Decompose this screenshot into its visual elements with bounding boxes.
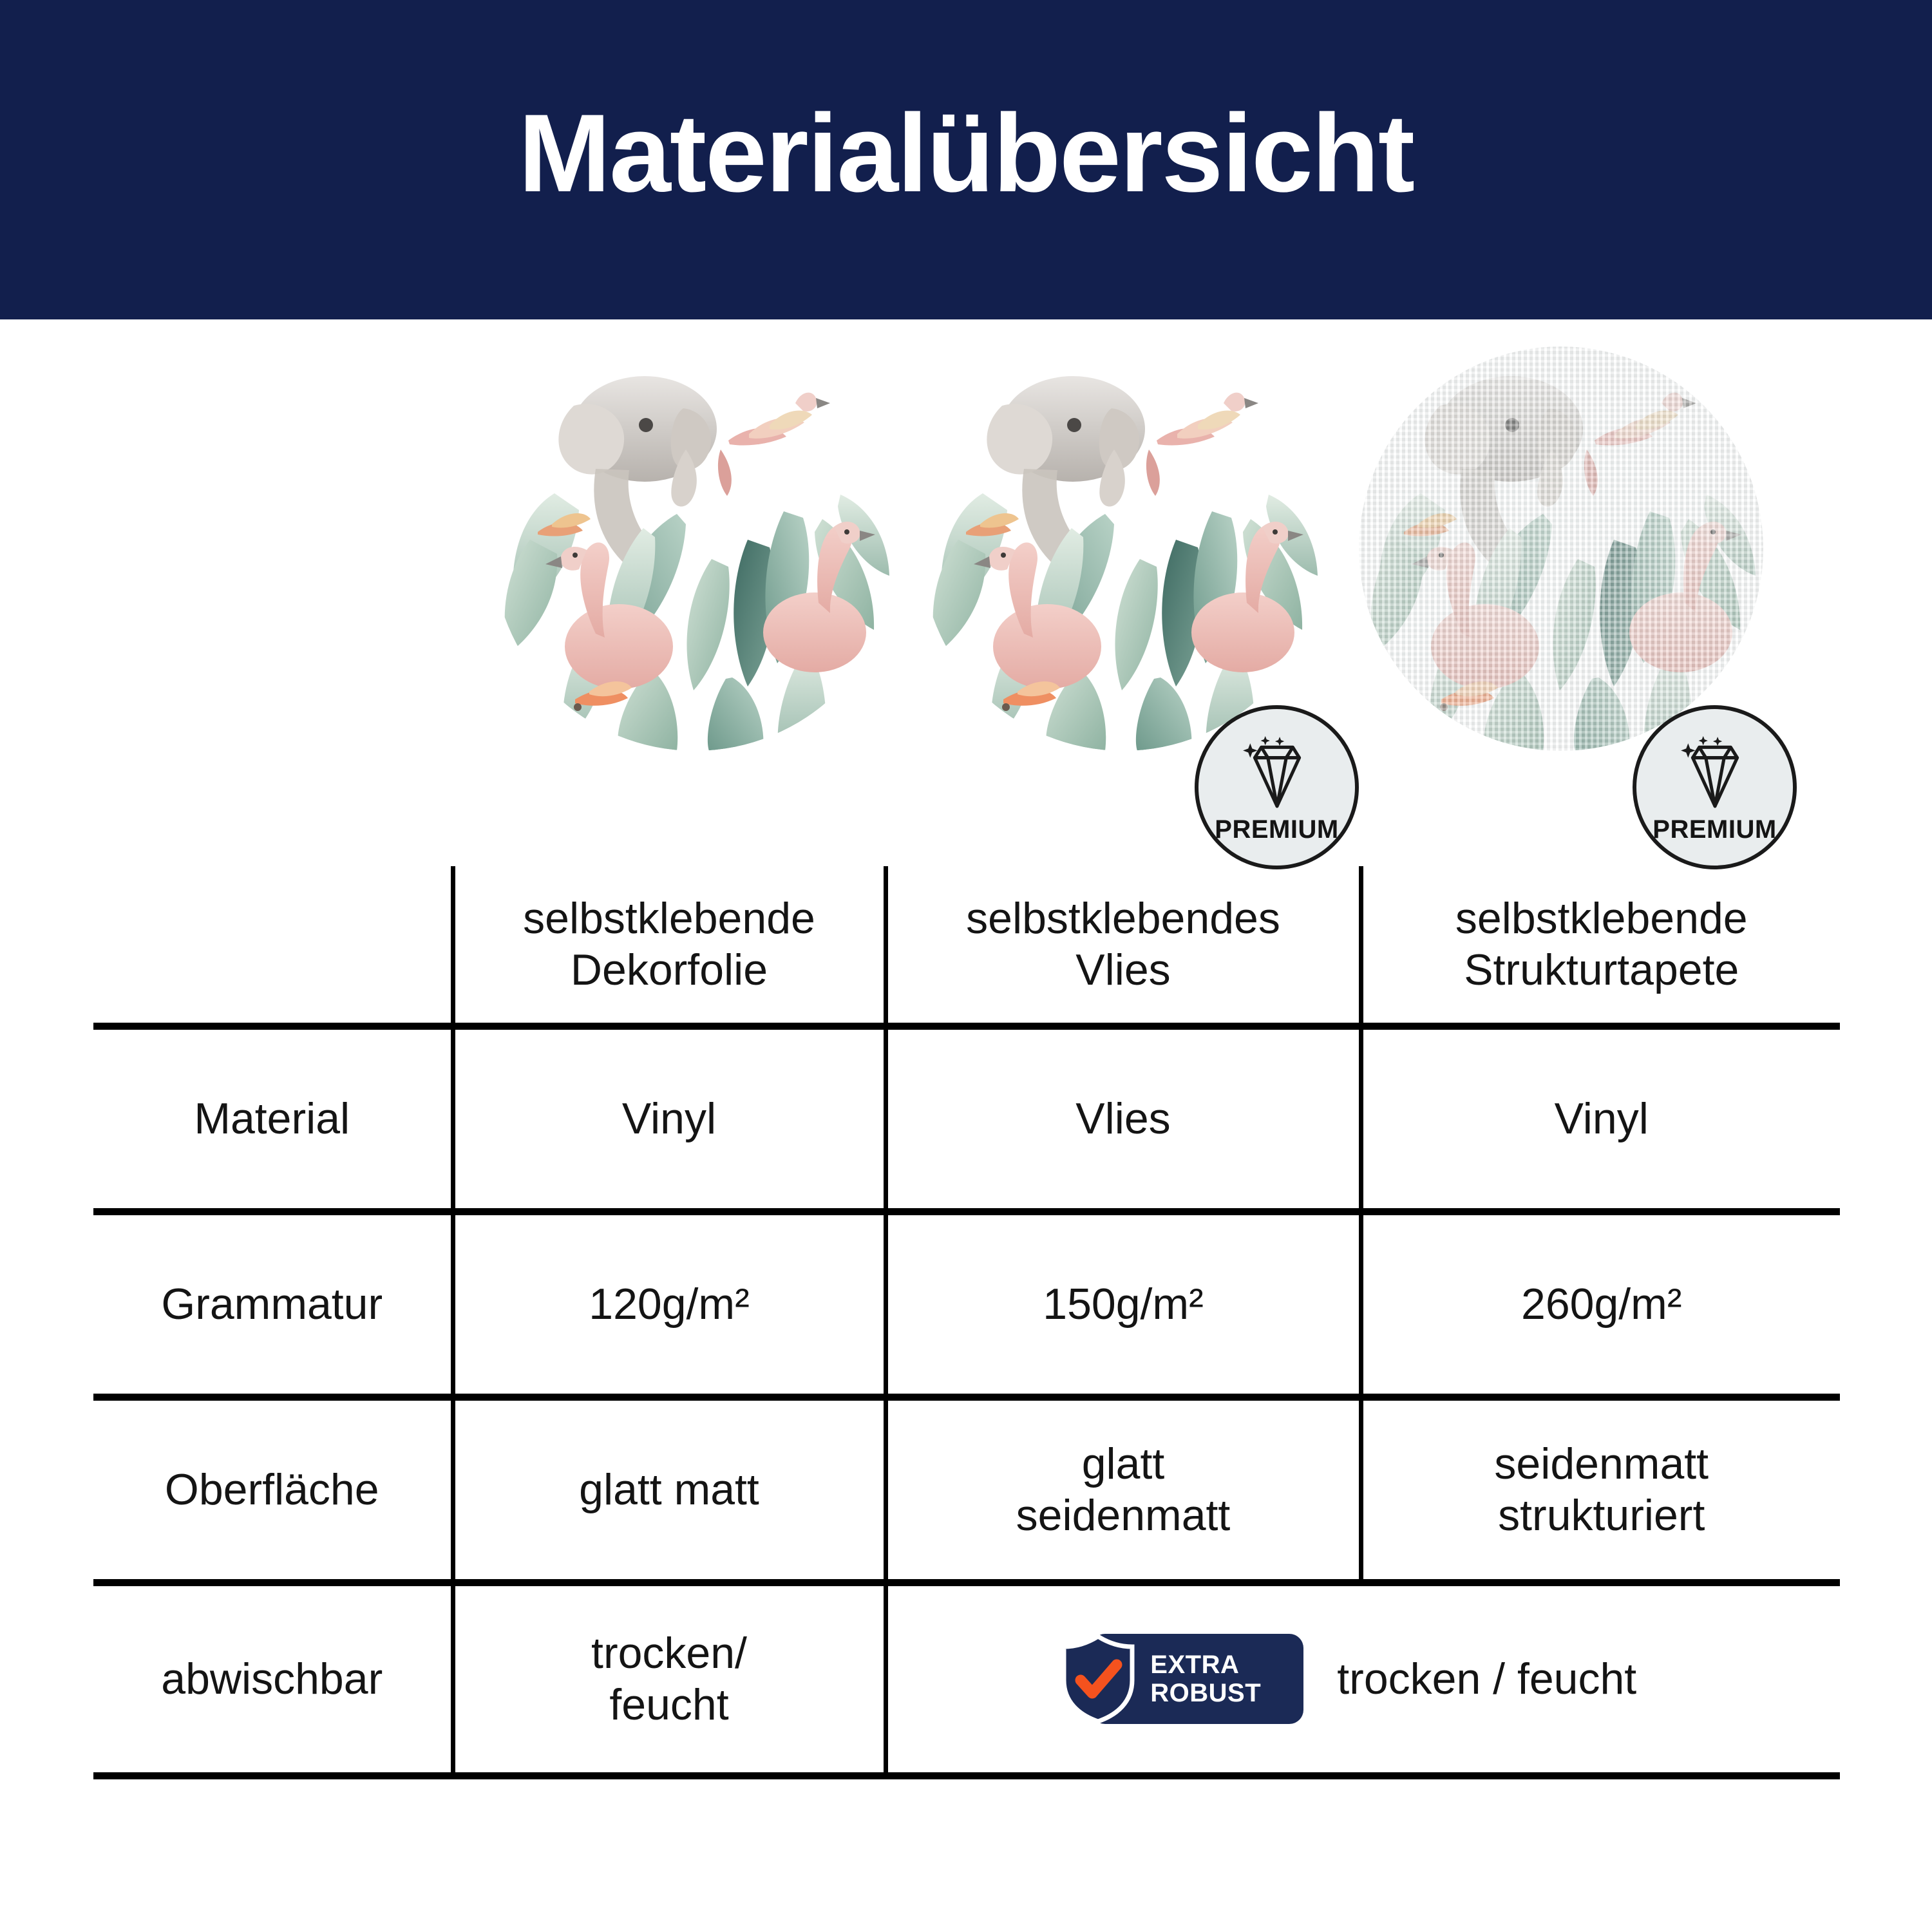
cell-oberflaeche-vlies: glatt seidenmatt — [885, 1397, 1361, 1582]
table-header-row: selbstklebende Dekorfolie selbstklebende… — [93, 866, 1840, 1026]
shield-check-icon — [1060, 1634, 1136, 1724]
robust-line-2: ROBUST — [1150, 1680, 1261, 1706]
cell-grammatur-vlies: 150g/m² — [885, 1211, 1361, 1397]
header-line-2: Strukturtapete — [1464, 945, 1739, 994]
premium-badge: PREMIUM — [1633, 705, 1797, 869]
cell-line-2: strukturiert — [1498, 1491, 1705, 1540]
table-row: abwischbar trocken/ feucht EXTRA — [93, 1582, 1840, 1776]
jungle-artwork — [493, 346, 897, 751]
preview-circle-strukturtapete[interactable] — [1359, 346, 1763, 751]
row-label-material: Material — [93, 1026, 453, 1211]
material-previews: PREMIUM PREMIUM — [0, 341, 1932, 760]
cell-line-1: glatt — [1082, 1439, 1165, 1488]
cell-line-2: feucht — [609, 1680, 728, 1729]
cell-line-1: seidenmatt — [1494, 1439, 1709, 1488]
cell-abwischbar-dekorfolie: trocken/ feucht — [453, 1582, 885, 1776]
diamond-icon — [1676, 735, 1754, 811]
header-line-1: selbstklebendes — [966, 894, 1280, 943]
table-row: Material Vinyl Vlies Vinyl — [93, 1026, 1840, 1211]
header-line-1: selbstklebende — [1455, 894, 1748, 943]
robust-line-1: EXTRA — [1150, 1652, 1261, 1678]
preview-circle-dekorfolie[interactable] — [493, 346, 897, 751]
cell-material-strukturtapete: Vinyl — [1361, 1026, 1840, 1211]
header-line-1: selbstklebende — [523, 894, 815, 943]
extra-robust-badge: EXTRA ROBUST — [1091, 1634, 1303, 1724]
material-overview-page: Materialübersicht — [0, 0, 1932, 1932]
header-cell-strukturtapete: selbstklebende Strukturtapete — [1361, 866, 1840, 1026]
table-row: Grammatur 120g/m² 150g/m² 260g/m² — [93, 1211, 1840, 1397]
table-row: Oberfläche glatt matt glatt seidenmatt s… — [93, 1397, 1840, 1582]
cell-grammatur-strukturtapete: 260g/m² — [1361, 1211, 1840, 1397]
header-cell-vlies: selbstklebendes Vlies — [885, 866, 1361, 1026]
jungle-artwork — [921, 346, 1325, 751]
watercolor-jungle-illustration — [1359, 346, 1763, 751]
cell-abwischbar-merged: EXTRA ROBUST trocken / feucht — [885, 1582, 1840, 1776]
header-cell-empty — [93, 866, 453, 1026]
header-banner: Materialübersicht — [0, 0, 1932, 319]
row-label-grammatur: Grammatur — [93, 1211, 453, 1397]
cell-material-vlies: Vlies — [885, 1026, 1361, 1211]
cell-oberflaeche-strukturtapete: seidenmatt strukturiert — [1361, 1397, 1840, 1582]
preview-circle-vlies[interactable] — [921, 346, 1325, 751]
cell-abwischbar-merged-text: trocken / feucht — [1337, 1653, 1636, 1705]
cell-line-1: trocken/ — [591, 1629, 747, 1678]
row-label-oberflaeche: Oberfläche — [93, 1397, 453, 1582]
premium-label: PREMIUM — [1215, 815, 1338, 844]
row-label-abwischbar: abwischbar — [93, 1582, 453, 1776]
page-title: Materialübersicht — [518, 98, 1414, 209]
watercolor-jungle-illustration — [921, 346, 1325, 751]
watercolor-jungle-illustration — [493, 346, 897, 751]
header-cell-dekorfolie: selbstklebende Dekorfolie — [453, 866, 885, 1026]
robust-merged-content: EXTRA ROBUST trocken / feucht — [897, 1634, 1832, 1724]
cell-oberflaeche-dekorfolie: glatt matt — [453, 1397, 885, 1582]
header-line-2: Vlies — [1075, 945, 1170, 994]
jungle-artwork — [1359, 346, 1763, 751]
diamond-icon — [1238, 735, 1316, 811]
cell-line-2: seidenmatt — [1016, 1491, 1231, 1540]
header-line-2: Dekorfolie — [571, 945, 768, 994]
premium-label: PREMIUM — [1653, 815, 1776, 844]
robust-text: EXTRA ROBUST — [1150, 1652, 1261, 1706]
premium-badge: PREMIUM — [1195, 705, 1359, 869]
material-spec-table: selbstklebende Dekorfolie selbstklebende… — [93, 866, 1840, 1779]
cell-grammatur-dekorfolie: 120g/m² — [453, 1211, 885, 1397]
cell-material-dekorfolie: Vinyl — [453, 1026, 885, 1211]
